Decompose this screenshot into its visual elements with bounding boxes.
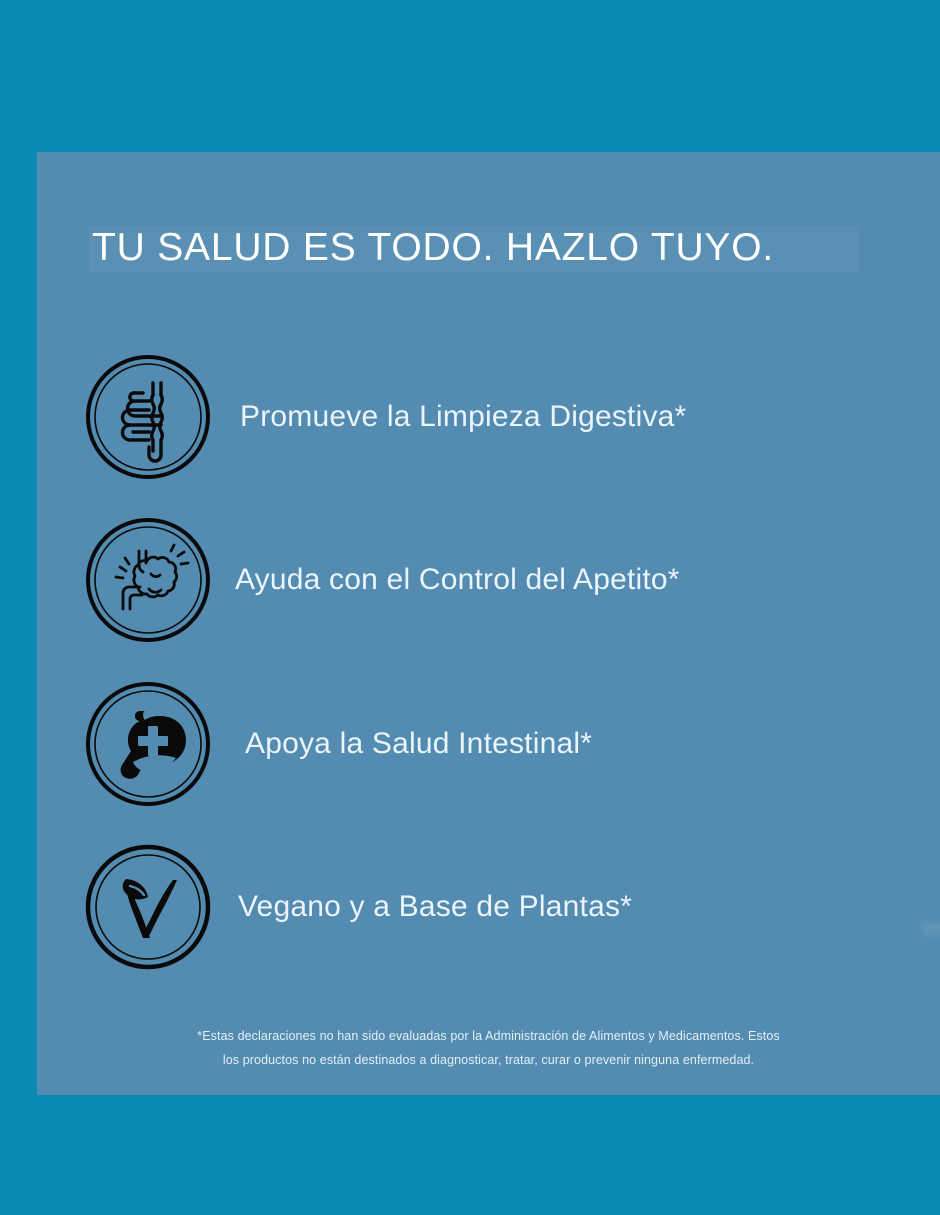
page-title: TU SALUD ES TODO. HAZLO TUYO. xyxy=(92,224,774,272)
benefit-row: Apoya la Salud Intestinal* xyxy=(37,679,940,809)
benefit-label: Ayuda con el Control del Apetito* xyxy=(235,562,680,598)
stomach-appetite-icon xyxy=(85,517,211,643)
vegan-leaf-v-icon xyxy=(85,844,211,970)
benefit-row: Promueve la Limpieza Digestiva* xyxy=(37,352,940,482)
benefit-label: Promueve la Limpieza Digestiva* xyxy=(240,399,686,435)
outer-background: TU SALUD ES TODO. HAZLO TUYO. xyxy=(0,0,940,1215)
benefit-label: Apoya la Salud Intestinal* xyxy=(245,726,592,762)
disclaimer: *Estas declaraciones no han sido evaluad… xyxy=(37,1024,940,1072)
promo-panel: TU SALUD ES TODO. HAZLO TUYO. xyxy=(37,152,940,1095)
benefit-row: Vegano y a Base de Plantas* xyxy=(37,842,940,972)
benefit-row: Ayuda con el Control del Apetito* xyxy=(37,515,940,645)
stomach-plus-icon xyxy=(85,681,211,807)
disclaimer-line-1: *Estas declaraciones no han sido evaluad… xyxy=(37,1024,940,1048)
intestine-icon xyxy=(85,354,211,480)
disclaimer-line-2: los productos no están destinados a diag… xyxy=(37,1048,940,1072)
image-artifact xyxy=(922,922,940,936)
benefit-label: Vegano y a Base de Plantas* xyxy=(238,889,632,925)
